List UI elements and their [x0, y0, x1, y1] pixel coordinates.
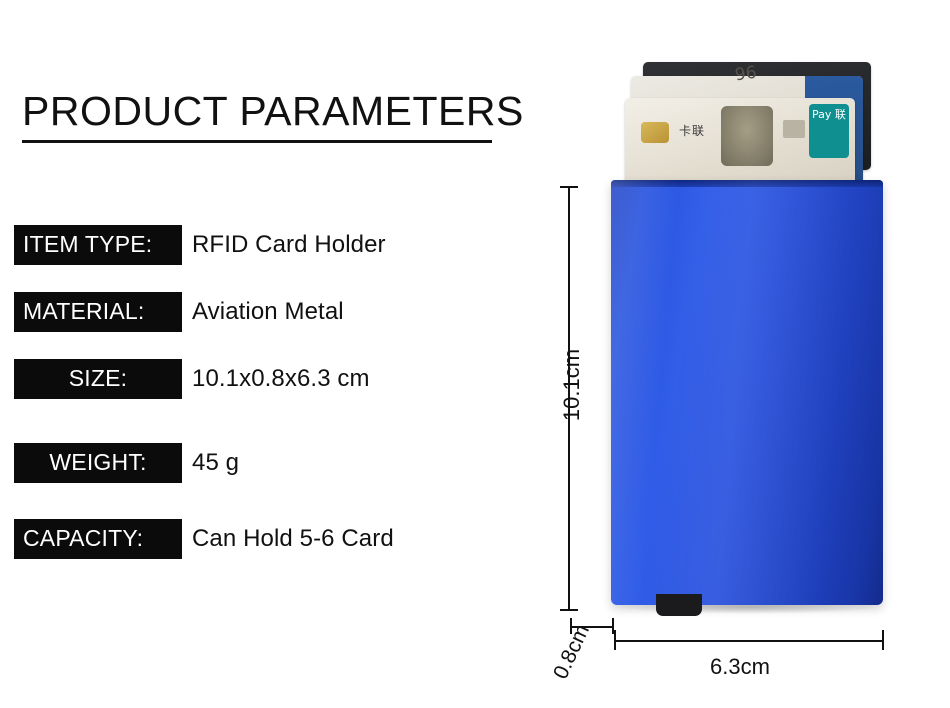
spec-label-capacity: CAPACITY: [14, 519, 182, 559]
width-dimension-label: 6.3cm [710, 654, 770, 680]
card-portrait [721, 106, 773, 166]
page-title: PRODUCT PARAMETERS [22, 88, 524, 135]
wallet-aluminum-body [611, 180, 883, 605]
card-handwriting: 96 [734, 63, 758, 86]
parameters-panel: PRODUCT PARAMETERS ITEM TYPE: RFID Card … [0, 0, 540, 708]
thickness-dimension-label: 0.8cm [540, 602, 604, 703]
height-dimension-label: 10.1cm [559, 325, 585, 445]
spec-label-item-type: ITEM TYPE: [14, 225, 182, 265]
product-parameters-page: PRODUCT PARAMETERS ITEM TYPE: RFID Card … [0, 0, 950, 708]
height-guide-tick-top [560, 186, 578, 188]
width-guide-tick-right [882, 630, 884, 650]
spec-row-size: SIZE: 10.1x0.8x6.3 cm [14, 360, 370, 398]
width-guide-tick-left [614, 630, 616, 650]
card-chip-icon [641, 122, 669, 143]
card-stack: 卡联 Pay 联 96 [625, 62, 870, 192]
spec-row-weight: WEIGHT: 45 g [14, 444, 239, 482]
height-guide-tick-bottom [560, 609, 578, 611]
spec-value-item-type: RFID Card Holder [192, 231, 386, 259]
card-pay-badge: Pay 联 [809, 104, 849, 158]
card-cn-text: 卡联 [679, 122, 705, 139]
spec-value-weight: 45 g [192, 449, 239, 477]
spec-value-size: 10.1x0.8x6.3 cm [192, 365, 370, 393]
width-guide-line [614, 640, 884, 642]
wallet-thumb-slider [656, 594, 702, 616]
spec-value-capacity: Can Hold 5-6 Card [192, 525, 394, 553]
spec-label-size: SIZE: [14, 359, 182, 399]
spec-label-material: MATERIAL: [14, 292, 182, 332]
spec-row-capacity: CAPACITY: Can Hold 5-6 Card [14, 520, 394, 558]
card-hologram [783, 120, 805, 138]
wallet-sheen [611, 180, 883, 605]
spec-label-weight: WEIGHT: [14, 443, 182, 483]
title-underline [22, 140, 492, 143]
spec-value-material: Aviation Metal [192, 298, 344, 326]
spec-row-material: MATERIAL: Aviation Metal [14, 293, 344, 331]
thickness-guide-tick-right [612, 618, 614, 634]
product-photo: 卡联 Pay 联 96 10.1cm 6.3cm 0.8cm [540, 0, 950, 708]
spec-row-item-type: ITEM TYPE: RFID Card Holder [14, 226, 386, 264]
